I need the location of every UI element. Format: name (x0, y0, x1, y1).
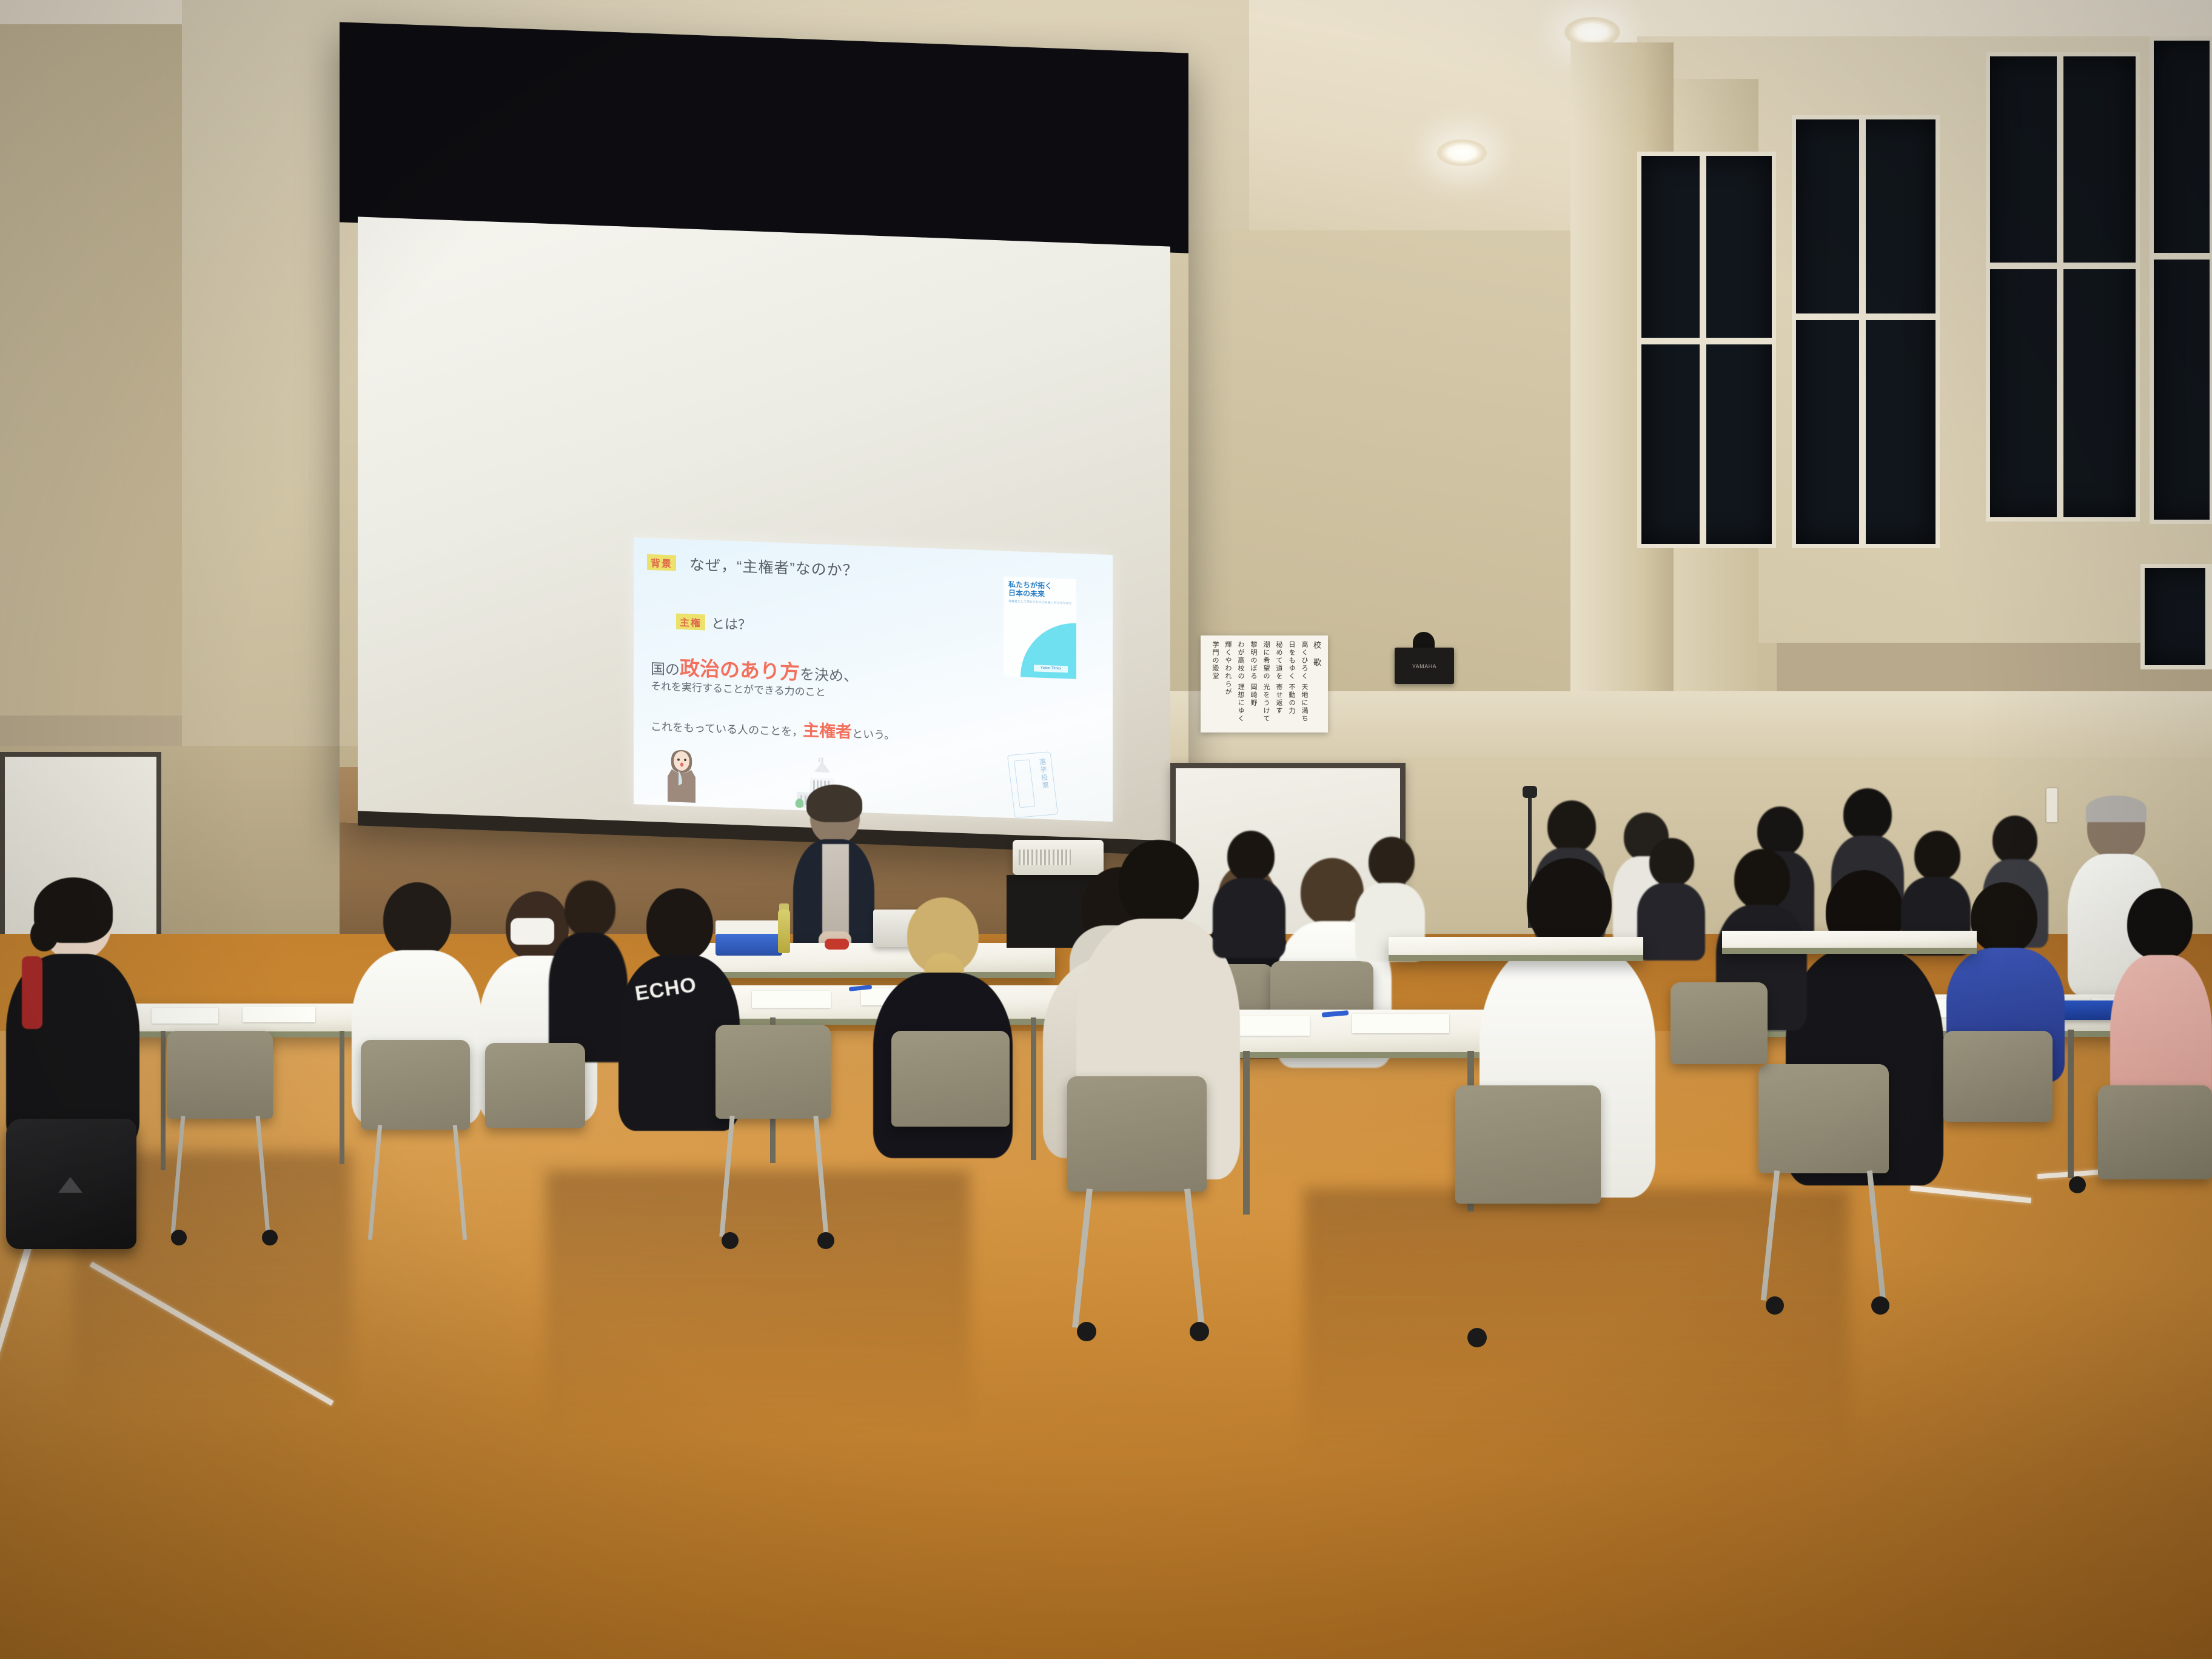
paper-left-2 (243, 1007, 315, 1022)
paper-center-2 (1352, 1014, 1449, 1033)
slide-closing-line: これをもっている人のことを，主権者という。 (651, 711, 895, 744)
ballot-write-field (1014, 759, 1035, 808)
slide-headline-row: 背景 なぜ，“主権者”なのか？ (647, 551, 859, 581)
chair-left-1 (167, 1031, 273, 1119)
slide-badge-background: 背景 (647, 554, 676, 571)
slide-badge-sovereignty: 主権 (676, 614, 705, 631)
slide-definition-suffix: を決め、 (800, 666, 858, 685)
chair-front-1 (716, 1025, 831, 1119)
table-leg-left-2 (340, 1031, 344, 1164)
chair-right-1 (1758, 1064, 1889, 1173)
chair-right-4 (1671, 982, 1768, 1064)
caster-right-2 (1871, 1296, 1889, 1315)
red-item-on-table (825, 939, 849, 950)
poster-heading: 校 歌 (1312, 641, 1321, 727)
poster-line-7: 輝くやわれらが (1223, 641, 1232, 727)
wall-speaker: YAMAHA (1395, 648, 1454, 684)
poster-line-8: 学門の殿堂 (1210, 641, 1219, 727)
poster-line-1: 高くひろく 天地に満ち (1299, 641, 1309, 727)
person-mid-3 (1637, 838, 1705, 959)
textbook-subtitle: 有権者として求められる力を身に付けるために (1008, 600, 1072, 606)
paper-left-1 (152, 1008, 218, 1024)
caster-right-1 (1766, 1296, 1784, 1315)
slide-sovereignty-row: 主権 とは？ (676, 612, 751, 634)
microphone-icon (1523, 786, 1537, 798)
poster-line-3: 秘めて道を 寄せ返す (1274, 641, 1283, 727)
caster-center-1 (1077, 1322, 1096, 1341)
poster-line-6: わが高校の 理想にゆく (1236, 641, 1245, 727)
table-leg-front-2 (1031, 1017, 1036, 1160)
downlight-4 (1437, 139, 1487, 166)
poster-line-2: 日をもゆく 不動の力 (1287, 641, 1296, 727)
slide-definition-prefix: 国の (651, 661, 680, 679)
chair-center-big-2 (1455, 1085, 1601, 1204)
drink-bottle (778, 910, 790, 953)
person-left-foreground (6, 882, 139, 1149)
window-4 (2150, 36, 2212, 524)
chair-left-2 (361, 1040, 470, 1130)
table-leg-right-2 (2068, 1030, 2074, 1178)
slide-sovereignty-question: とは？ (711, 613, 751, 634)
chair-right-3 (2098, 1085, 2212, 1179)
slide-closing-emphasis: 主権者 (803, 721, 852, 741)
classroom-scene: 背景 なぜ，“主権者”なのか？ 主権 とは？ 国の政治のあり方を決め、 それを実… (0, 0, 2212, 1659)
slide-headline: なぜ，“主権者”なのか？ (689, 552, 859, 580)
chair-right-2 (1943, 1031, 2053, 1122)
window-5-lower (2140, 564, 2212, 669)
textbook-title-line2: 日本の未来 (1008, 589, 1052, 599)
floor-reflection-blob-center (546, 1170, 970, 1431)
projector-vent (1019, 850, 1071, 865)
projection-screen-mask (340, 22, 1188, 253)
chair-center-big-1 (1067, 1076, 1207, 1191)
textbook-badge: Yuken Times (1034, 665, 1068, 672)
textbook-title: 私たちが拓く 日本の未来 (1008, 580, 1052, 599)
caster-center-2 (1190, 1322, 1209, 1341)
group-table-far-right (1722, 931, 1977, 954)
caster-front-1 (722, 1232, 739, 1249)
projection-screen-surface: 背景 なぜ，“主権者”なのか？ 主権 とは？ 国の政治のあり方を決め、 それを実… (358, 216, 1170, 853)
poster-line-5: 黎明のぼる 岡崎野 (1248, 641, 1258, 727)
presentation-slide: 背景 なぜ，“主権者”なのか？ 主権 とは？ 国の政治のあり方を決め、 それを実… (634, 537, 1113, 822)
poster-line-4: 潮に希望の 光をうけて (1261, 641, 1270, 727)
table-leg-center-1 (1243, 1051, 1250, 1215)
caster-right-3 (2069, 1176, 2086, 1193)
ballot-label: 選挙投票 (1037, 758, 1050, 790)
chair-front-2 (891, 1031, 1010, 1127)
chair-left-3 (485, 1043, 585, 1128)
paper-front-1 (752, 991, 831, 1008)
window-2 (1792, 115, 1940, 548)
projection-screen: 背景 なぜ，“主権者”なのか？ 主権 とは？ 国の政治のあり方を決め、 それを実… (340, 22, 1188, 853)
adidas-logo-icon (58, 1177, 82, 1193)
ballot-paper-illustration: 選挙投票 (1007, 751, 1058, 818)
woman-speaking-illustration (665, 745, 698, 804)
school-song-poster: 校 歌 高くひろく 天地に満ち 日をもゆく 不動の力 秘めて道を 寄せ返す 潮に… (1201, 635, 1328, 732)
person-mid-1 (1213, 831, 1285, 958)
speaker-brand-label: YAMAHA (1412, 663, 1436, 669)
backpack (6, 1119, 136, 1249)
table-leg-left-1 (161, 1031, 166, 1170)
caster-left-2 (262, 1230, 278, 1245)
person-left-dark-1 (549, 880, 628, 1062)
caster-center-3 (1467, 1328, 1487, 1347)
caster-front-2 (817, 1232, 834, 1249)
slide-closing-suffix: という。 (852, 728, 895, 742)
group-table-mid-back (1389, 937, 1643, 961)
caster-left-1 (171, 1230, 187, 1245)
textbook-cover-graphic: 私たちが拓く 日本の未来 有権者として求められる力を身に付けるために Yuken… (1004, 576, 1076, 679)
window-3 (1986, 52, 2140, 521)
window-1 (1637, 152, 1776, 548)
slide-closing-prefix: これをもっている人のことを， (651, 720, 803, 738)
